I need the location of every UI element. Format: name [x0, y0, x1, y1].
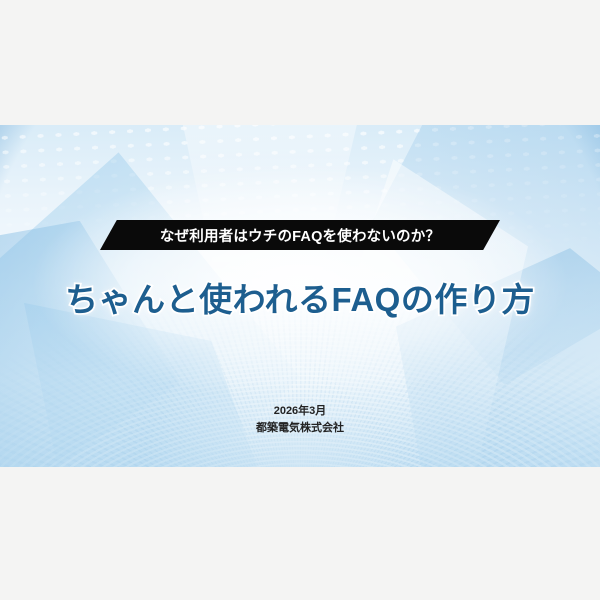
footer-company: 都築電気株式会社: [0, 420, 600, 437]
background-polygon-c: [24, 303, 264, 467]
subtitle-banner: なぜ利用者はウチのFAQを使わないのか？: [100, 220, 500, 250]
presentation-slide: なぜ利用者はウチのFAQを使わないのか？ ちゃんと使われるFAQの作り方 202…: [0, 125, 600, 467]
screenshot-viewport: なぜ利用者はウチのFAQを使わないのか？ ちゃんと使われるFAQの作り方 202…: [0, 0, 600, 600]
background-polygon-d: [372, 125, 600, 385]
footer-date: 2026年3月: [0, 403, 600, 420]
subtitle-banner-text: なぜ利用者はウチのFAQを使わないのか？: [160, 225, 440, 246]
background-polygon-g: [180, 125, 360, 296]
slide-title: ちゃんと使われるFAQの作り方: [0, 273, 600, 321]
slide-footer-text: 2026年3月 都築電気株式会社: [0, 403, 600, 437]
